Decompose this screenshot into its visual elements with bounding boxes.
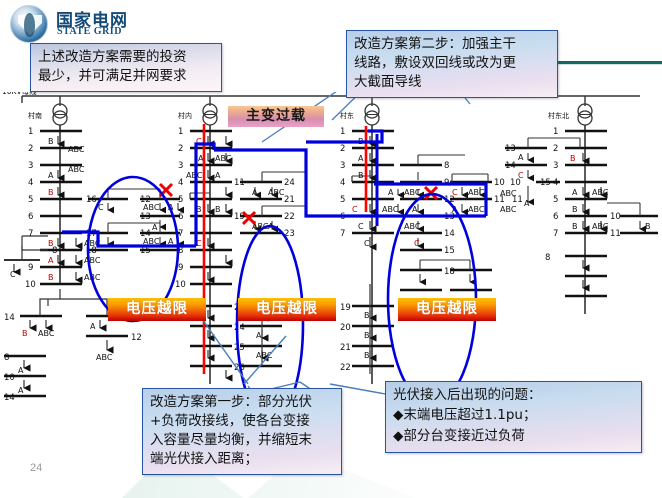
svg-text:3: 3 xyxy=(553,161,558,171)
svg-text:A: A xyxy=(18,366,24,375)
svg-text:村南: 村南 xyxy=(28,111,42,120)
svg-text:ABC: ABC xyxy=(256,351,273,360)
svg-text:8: 8 xyxy=(545,253,550,263)
svg-text:ABC: ABC xyxy=(68,145,85,154)
svg-text:C: C xyxy=(358,222,364,231)
svg-text:A: A xyxy=(90,322,96,331)
svg-text:10: 10 xyxy=(610,212,621,222)
svg-text:8: 8 xyxy=(444,161,449,171)
svg-text:B: B xyxy=(358,171,364,180)
svg-text:4: 4 xyxy=(178,178,183,188)
svg-text:1: 1 xyxy=(553,127,558,137)
svg-text:C: C xyxy=(352,205,358,214)
svg-text:ABC: ABC xyxy=(68,165,85,174)
open-switch-markers xyxy=(160,184,437,224)
svg-text:5: 5 xyxy=(178,195,183,205)
callout-line: 上述改造方案需要的投资 xyxy=(38,48,215,67)
svg-text:B: B xyxy=(48,137,54,146)
svg-text:19: 19 xyxy=(340,303,351,313)
callout-line: +负荷改接线，使各台变接 xyxy=(150,412,335,431)
svg-text:ABC: ABC xyxy=(38,329,55,338)
status-badge-transformer-overload: 主变过载 xyxy=(228,106,324,127)
svg-text:21: 21 xyxy=(284,195,295,205)
svg-text:ABC: ABC xyxy=(215,154,232,163)
svg-text:C: C xyxy=(364,239,370,248)
svg-text:B: B xyxy=(364,331,370,340)
callout-line: 线路，敷设双回线或改为更 xyxy=(354,54,551,73)
svg-text:B: B xyxy=(572,205,578,214)
svg-text:ABC: ABC xyxy=(592,222,609,231)
svg-text:7: 7 xyxy=(28,229,33,239)
feeder-cundongbei xyxy=(505,125,658,314)
status-badge-voltage-violation-3: 电压越限 xyxy=(398,298,496,321)
callout-bullet: ◆部分台变接近过负荷 xyxy=(393,426,635,447)
svg-text:A: A xyxy=(18,386,24,395)
svg-text:A: A xyxy=(524,199,530,208)
svg-text:A: A xyxy=(48,256,54,265)
svg-text:13: 13 xyxy=(140,212,151,222)
svg-text:7: 7 xyxy=(553,229,558,239)
callout-investment-summary: 上述改造方案需要的投资 最少，并可满足并网要求 xyxy=(30,43,222,92)
svg-text:C: C xyxy=(10,270,16,279)
state-grid-emblem-icon xyxy=(10,5,48,43)
svg-text:ABC: ABC xyxy=(592,188,609,197)
svg-text:1: 1 xyxy=(340,127,345,137)
callout-line: 最少，并可满足并网要求 xyxy=(38,67,215,86)
svg-text:A: A xyxy=(252,188,258,197)
callout-plan-step-1: 改造方案第一步：部分光伏 +负荷改接线，使各台变接 入容量尽量均衡，并缩短末 端… xyxy=(142,388,342,475)
svg-text:C: C xyxy=(452,188,458,197)
svg-text:8: 8 xyxy=(4,353,9,363)
brand-name-en: STATE GRID xyxy=(57,26,122,37)
svg-text:11: 11 xyxy=(610,229,621,239)
svg-text:A: A xyxy=(256,331,262,340)
callout-title: 光伏接入后出现的问题： xyxy=(393,386,635,405)
svg-text:B: B xyxy=(22,329,28,338)
svg-text:18: 18 xyxy=(444,267,455,277)
svg-text:4: 4 xyxy=(340,178,345,188)
svg-text:ABC: ABC xyxy=(143,203,160,212)
svg-text:村东: 村东 xyxy=(340,111,354,120)
svg-text:14: 14 xyxy=(4,313,15,323)
callout-line: 端光伏接入距离； xyxy=(150,450,335,469)
svg-text:B: B xyxy=(570,154,576,163)
svg-text:1: 1 xyxy=(28,127,33,137)
svg-text:村内: 村内 xyxy=(178,111,192,120)
svg-text:B: B xyxy=(645,222,651,231)
svg-text:A: A xyxy=(518,153,524,162)
callout-line: 改造方案第一步：部分光伏 xyxy=(150,393,335,412)
status-badge-voltage-violation-2: 电压越限 xyxy=(238,298,336,321)
svg-text:14: 14 xyxy=(444,229,455,239)
svg-text:A: A xyxy=(388,188,394,197)
svg-text:ABC: ABC xyxy=(382,205,399,214)
svg-text:3: 3 xyxy=(178,161,183,171)
svg-text:13: 13 xyxy=(505,144,516,154)
callout-line: 入容量尽量均衡，并缩短末 xyxy=(150,431,335,450)
svg-text:4: 4 xyxy=(553,178,558,188)
svg-text:5: 5 xyxy=(340,195,345,205)
svg-text:12: 12 xyxy=(131,333,142,343)
svg-text:10: 10 xyxy=(4,373,15,383)
svg-text:A: A xyxy=(48,171,54,180)
svg-text:C: C xyxy=(414,239,420,248)
svg-text:9: 9 xyxy=(178,263,183,273)
svg-text:10: 10 xyxy=(175,280,186,290)
svg-text:22: 22 xyxy=(284,212,295,222)
svg-text:B: B xyxy=(48,239,54,248)
svg-text:7: 7 xyxy=(178,229,183,239)
svg-text:ABC: ABC xyxy=(404,222,421,231)
callout-line: 改造方案第二步：加强主干 xyxy=(354,35,551,54)
svg-text:ABC: ABC xyxy=(96,353,113,362)
status-badge-voltage-violation-1: 电压越限 xyxy=(108,298,206,321)
svg-text:B: B xyxy=(48,188,54,197)
svg-text:村东北: 村东北 xyxy=(548,111,569,120)
svg-text:9: 9 xyxy=(28,263,33,273)
svg-text:6: 6 xyxy=(553,212,558,222)
page-number: 24 xyxy=(30,462,42,474)
svg-text:15: 15 xyxy=(540,178,551,188)
svg-text:4: 4 xyxy=(28,178,33,188)
svg-text:B: B xyxy=(364,311,370,320)
svg-text:10: 10 xyxy=(494,178,505,188)
svg-text:B: B xyxy=(364,351,370,360)
svg-text:B: B xyxy=(48,273,54,282)
callout-plan-step-2: 改造方案第二步：加强主干 线路，敷设双回线或改为更 大截面导线 xyxy=(346,30,558,98)
svg-text:ABC: ABC xyxy=(468,188,485,197)
svg-text:ABC: ABC xyxy=(468,205,485,214)
svg-text:16: 16 xyxy=(86,195,97,205)
svg-text:3: 3 xyxy=(340,161,345,171)
svg-text:22: 22 xyxy=(340,363,351,373)
svg-text:11: 11 xyxy=(234,178,245,188)
svg-text:A: A xyxy=(358,154,364,163)
svg-text:15: 15 xyxy=(444,246,455,256)
svg-text:ABC: ABC xyxy=(500,205,517,214)
svg-text:2: 2 xyxy=(28,144,33,154)
svg-text:14: 14 xyxy=(4,393,15,403)
svg-text:A: A xyxy=(152,223,158,232)
svg-text:A: A xyxy=(215,171,221,180)
svg-text:1: 1 xyxy=(178,127,183,137)
svg-text:ABC: ABC xyxy=(404,188,421,197)
svg-text:ABC: ABC xyxy=(268,188,285,197)
slide-canvas: 10KV母线 村南 村内 村东 村东北 xyxy=(0,0,662,498)
callout-line: 大截面导线 xyxy=(354,73,551,92)
svg-text:24: 24 xyxy=(234,323,245,333)
svg-text:7: 7 xyxy=(340,229,345,239)
svg-text:2: 2 xyxy=(553,144,558,154)
svg-text:B: B xyxy=(215,205,221,214)
svg-text:2: 2 xyxy=(340,144,345,154)
svg-text:ABC: ABC xyxy=(500,189,517,198)
svg-text:14: 14 xyxy=(505,161,516,171)
svg-text:10: 10 xyxy=(25,280,36,290)
svg-text:20: 20 xyxy=(340,323,351,333)
svg-text:24: 24 xyxy=(284,178,295,188)
svg-text:A: A xyxy=(572,188,578,197)
callout-pv-problems: 光伏接入后出现的问题： ◆末端电压超过1.1pu； ◆部分台变接近过负荷 xyxy=(385,381,642,453)
svg-text:6: 6 xyxy=(178,212,183,222)
svg-text:ABC: ABC xyxy=(84,256,101,265)
svg-text:B: B xyxy=(572,222,578,231)
svg-text:5: 5 xyxy=(553,195,558,205)
svg-text:C: C xyxy=(518,171,524,180)
callout-bullet: ◆末端电压超过1.1pu； xyxy=(393,405,635,426)
svg-text:2: 2 xyxy=(178,144,183,154)
svg-text:21: 21 xyxy=(340,343,351,353)
svg-text:5: 5 xyxy=(28,195,33,205)
svg-text:3: 3 xyxy=(28,161,33,171)
svg-text:6: 6 xyxy=(28,212,33,222)
